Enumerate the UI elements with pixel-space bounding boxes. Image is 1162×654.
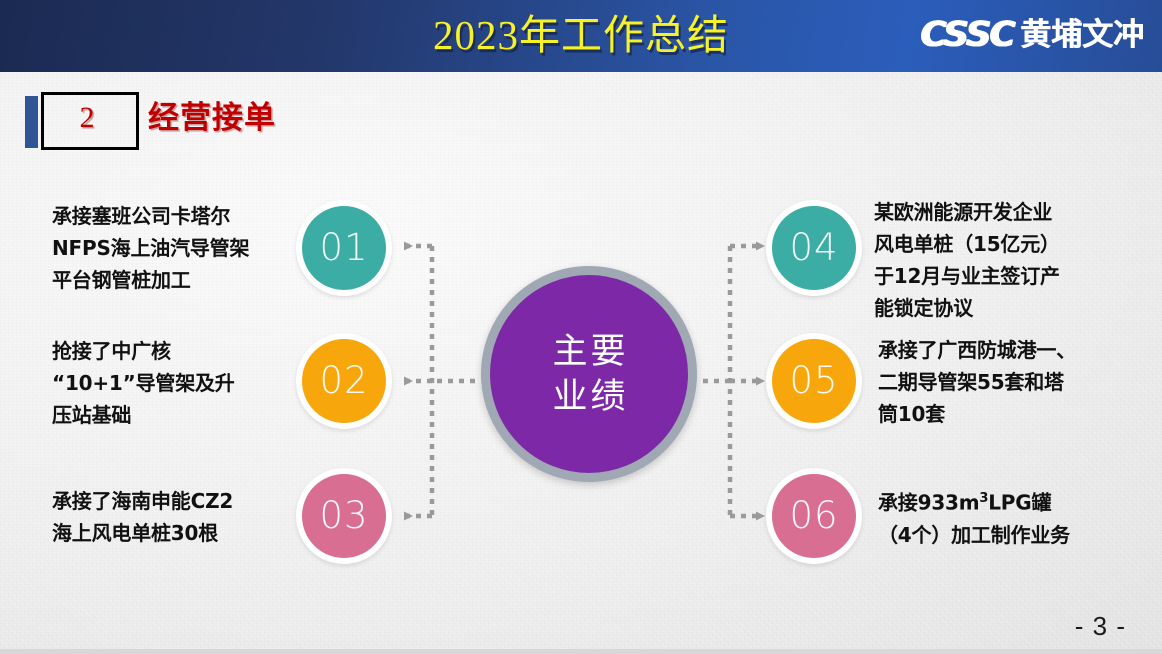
node-circle-02[interactable]: 02 (296, 333, 392, 429)
logo-latin-text: CSSC (920, 17, 1013, 53)
node-circle-06[interactable]: 06 (766, 468, 862, 564)
node-number-04: 04 (789, 228, 838, 268)
item-description-02: 抢接了中广核 “10+1”导管架及升 压站基础 (52, 335, 297, 431)
hub-label-line1: 主要 (549, 329, 628, 374)
node-circle-01[interactable]: 01 (296, 200, 392, 296)
cssc-logo: CSSC 黄埔文冲 (920, 12, 1144, 58)
section-title: 经营接单 (148, 92, 276, 144)
node-circle-03[interactable]: 03 (296, 468, 392, 564)
item-description-01: 承接塞班公司卡塔尔 NFPS海上油汽导管架 平台钢管桩加工 (52, 200, 297, 296)
item-06-text-part1: 承接933m (878, 491, 979, 515)
node-number-06: 06 (789, 496, 838, 536)
item-description-04: 某欧洲能源开发企业 风电单桩（15亿元） 于12月与业主签订产 能锁定协议 (874, 196, 1159, 324)
node-number-02: 02 (319, 361, 368, 401)
slide-canvas: 2023年工作总结 CSSC 黄埔文冲 2 经营接单 主要 业绩 01 02 0… (0, 0, 1162, 654)
node-circle-04[interactable]: 04 (766, 200, 862, 296)
section-number: 2 (41, 92, 133, 144)
hub-label-line2: 业绩 (549, 374, 628, 419)
item-description-03: 承接了海南申能CZ2 海上风电单桩30根 (52, 485, 297, 549)
item-description-06: 承接933m3LPG罐 （4个）加工制作业务 (878, 483, 1160, 551)
page-number: - 3 - (1075, 611, 1126, 642)
slide-header: 2023年工作总结 CSSC 黄埔文冲 (0, 0, 1162, 72)
item-06-superscript: 3 (979, 491, 988, 506)
item-description-05: 承接了广西防城港一、 二期导管架55套和塔 筒10套 (878, 334, 1158, 430)
node-number-03: 03 (319, 496, 368, 536)
logo-chinese-text: 黄埔文冲 (1020, 18, 1144, 52)
node-circle-05[interactable]: 05 (766, 333, 862, 429)
node-number-05: 05 (789, 361, 838, 401)
section-accent-bar (25, 96, 38, 148)
node-number-01: 01 (319, 228, 368, 268)
bottom-edge-strip (0, 649, 1162, 654)
hub-circle: 主要 业绩 (481, 266, 697, 482)
